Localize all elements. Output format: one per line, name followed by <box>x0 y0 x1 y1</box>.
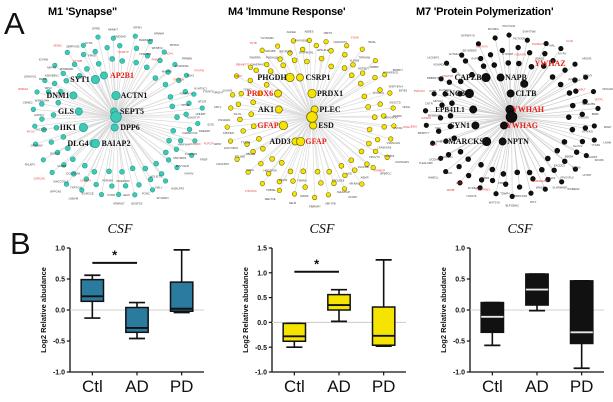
network-node <box>106 169 111 174</box>
network-node-label: HPSLFHA <box>317 48 330 52</box>
network-node <box>592 124 597 129</box>
network-node-label: HDTBCY <box>358 67 369 71</box>
network-node-label: BLPCBWC <box>506 203 519 207</box>
y-axis-tick-label: 1.0 <box>257 270 267 277</box>
network-node-label: IDGWF3 <box>80 178 91 182</box>
y-axis-title: Log2 Relative abudance <box>241 267 250 353</box>
network-node-label: TGTB <box>249 41 256 45</box>
network-node-label: PBWY <box>498 181 506 185</box>
network-node-label: YVAHV6 <box>466 194 477 198</box>
network-node-label: FNGV3 <box>583 73 592 77</box>
network-node <box>130 166 135 171</box>
network-node-label: BDCF <box>39 77 47 81</box>
significance-star: * <box>112 247 118 262</box>
y-axis-tick-label: 0.0 <box>55 308 65 315</box>
network-node-label: AIBVR <box>360 175 368 179</box>
network-node <box>249 112 254 117</box>
network-node-label: ARYFDN6 <box>279 50 292 54</box>
network-node <box>494 191 499 196</box>
network-node-label: KILPDAW1 <box>395 160 409 164</box>
network-node <box>303 185 308 190</box>
network-node-label: NHHHYHP <box>337 190 350 194</box>
network-node-label: WSPYIDV4 <box>389 85 403 89</box>
network-node <box>239 91 244 96</box>
network-node <box>178 138 183 143</box>
network-node-label: CLYE <box>566 39 573 43</box>
network-node <box>525 38 530 43</box>
boxplot-csf-m1-title: CSF <box>30 222 210 238</box>
network-node-label: MHMKT <box>108 27 118 31</box>
network-node <box>481 64 486 69</box>
network-node <box>562 139 567 144</box>
network-node <box>542 51 547 56</box>
network-node-label: ACHV <box>166 51 174 55</box>
boxplot-csf-m7-title: CSF <box>430 222 610 238</box>
network-node <box>562 159 567 164</box>
network-edge <box>315 55 345 112</box>
network-m4-graph: NRVGFDGLFANSGA6FRCVY5VGCFRBLKIDPPGLEK8TN… <box>214 18 410 212</box>
network-node-label: REGF4 <box>546 176 555 180</box>
network-node-label: BHBWRN7 <box>214 142 222 146</box>
network-node-label: IGYWB <box>39 57 48 61</box>
boxplot-csf-m1-canvas: 1.00.50.0-0.5-1.0Log2 Relative abudanceC… <box>30 240 210 402</box>
network-node-label: CWNE2 <box>23 100 33 104</box>
network-node <box>539 167 544 172</box>
network-node <box>123 183 128 188</box>
network-node-label: DYKSC4 <box>373 91 384 95</box>
network-node-label: TRPNAW <box>359 56 371 60</box>
network-hub-label: PHGDH <box>257 73 287 82</box>
network-node-label: MPKPIY7 <box>418 131 430 135</box>
network-hub-label: GNG3 <box>443 89 465 98</box>
x-axis-category-label: AD <box>125 377 149 396</box>
network-node <box>373 58 378 63</box>
significance-annotation: * <box>294 256 339 272</box>
network-node-label: NYDS <box>85 41 93 45</box>
network-node-label: SNTPMCR1 <box>299 51 314 55</box>
network-node-label: LDNNVGL <box>24 74 37 78</box>
network-node-label: KVBHY <box>436 140 445 144</box>
network-hub-label: PLEC <box>319 105 341 114</box>
network-node-label: IAKWIH <box>421 116 431 120</box>
network-node-label: WCBVC <box>50 151 60 155</box>
network-node-label: EEYWEIE9 <box>463 49 477 53</box>
network-node <box>501 171 506 176</box>
network-node <box>54 125 59 130</box>
boxplot-box-group <box>526 274 548 311</box>
network-hub-node <box>470 106 477 113</box>
network-node-label: TNPTCA1 <box>70 185 83 189</box>
network-node <box>563 68 568 73</box>
network-node <box>570 127 575 132</box>
y-axis-tick-label: -0.5 <box>453 339 465 346</box>
boxplot-csf-m7-graph: 1.00.50.0-0.5-1.0Log2 Relative abudanceC… <box>430 240 610 402</box>
network-node-label: ANNCMYL <box>214 105 222 109</box>
network-node-label: MDVH3 <box>433 99 443 103</box>
network-node-label: IWKABK <box>265 49 276 53</box>
network-node <box>248 78 253 83</box>
network-node <box>591 89 596 94</box>
box-iqr <box>328 295 350 310</box>
network-node <box>583 126 588 131</box>
network-node <box>264 82 269 87</box>
network-node-label: EEAY <box>123 193 130 197</box>
network-node-label: NPKEVT <box>214 90 224 94</box>
network-node <box>238 117 243 122</box>
network-hub-node <box>91 139 99 147</box>
network-node <box>110 56 115 61</box>
network-node <box>96 35 101 40</box>
network-node <box>260 48 265 53</box>
network-node-label: YSEASF3 <box>514 53 527 57</box>
network-node-label: WVTSY6 <box>489 201 501 205</box>
network-node-label: AAHILG1 <box>441 155 453 159</box>
network-node <box>99 192 104 197</box>
network-node <box>319 56 324 61</box>
network-hub-node <box>482 73 490 81</box>
network-node-label: FCWC <box>142 192 150 196</box>
network-hub-label: CLTB <box>515 89 537 98</box>
network-node <box>378 102 383 107</box>
network-hub-node <box>75 108 82 115</box>
network-node <box>304 59 309 64</box>
x-axis-category-label: PD <box>372 377 396 396</box>
network-hub-label: BAIAP2 <box>102 139 131 148</box>
network-node-label: WWDF <box>536 186 545 190</box>
network-node <box>449 101 454 106</box>
network-node-label: YLEALSM6 <box>419 161 433 165</box>
network-node <box>388 91 393 96</box>
network-node-label: WKWFA2 <box>18 87 28 91</box>
network-node <box>175 115 180 120</box>
network-node-label: HPYHRW1 <box>477 187 491 191</box>
network-hub-node <box>111 124 118 131</box>
network-node <box>596 106 601 111</box>
network-node <box>94 182 99 187</box>
network-hub-node <box>275 106 282 113</box>
network-node-label: PPLPGLL <box>568 77 580 81</box>
network-node-label: EBEB4 <box>565 154 574 158</box>
network-node-label: DBBSNTS5 <box>427 76 442 80</box>
network-node-label: TMBSE <box>266 188 275 192</box>
network-node <box>423 108 428 113</box>
network-node-label: SYDIE <box>351 36 359 40</box>
network-node <box>366 141 371 146</box>
network-node-label: EVHVTW6 <box>523 29 536 33</box>
network-node-label: INLITL <box>234 112 243 116</box>
network-node-label: YGVNGM2 <box>260 36 274 40</box>
network-node-label: CNTR <box>425 102 433 106</box>
network-m7-title: M7 'Protein Polymerization' <box>410 6 613 18</box>
network-node <box>241 128 246 133</box>
network-node-label: MTRCK <box>170 43 180 47</box>
network-node <box>359 149 364 154</box>
network-node <box>566 115 571 120</box>
network-node <box>516 61 521 66</box>
network-node <box>256 136 261 141</box>
x-axis-category-label: Ctl <box>284 377 305 396</box>
network-node-label: YGTBL8 <box>384 154 395 158</box>
network-node-label: CKRCW1 <box>33 177 45 181</box>
x-axis-category-label: AD <box>525 377 549 396</box>
network-hub-label: DNM1 <box>46 91 69 100</box>
y-axis-tick-label: 0.0 <box>455 308 465 315</box>
network-node-label: PKFYGN4 <box>503 24 516 28</box>
network-node <box>391 106 396 111</box>
x-axis-category-label: AD <box>327 377 351 396</box>
network-node-label: FRCVY5 <box>369 155 380 159</box>
network-node <box>56 100 61 105</box>
network-node-label: KYAWFWA <box>175 64 189 68</box>
network-node <box>117 43 122 48</box>
network-node-label: ASEAEBV1 <box>45 73 60 77</box>
network-node <box>200 106 205 111</box>
boxplot-box-group <box>571 281 593 368</box>
network-node <box>258 161 263 166</box>
network-node <box>281 63 286 68</box>
network-node-label: VHVHV <box>184 172 193 176</box>
network-node <box>479 162 484 167</box>
network-node-label: PBIRNPY <box>309 205 321 209</box>
network-hub-label: CAPZB <box>454 73 482 82</box>
network-node <box>292 58 297 63</box>
network-node-label: YEFMY <box>133 26 142 30</box>
box-iqr <box>283 323 305 341</box>
network-node <box>236 102 241 107</box>
network-node <box>61 71 66 76</box>
network-node <box>119 169 124 174</box>
network-node <box>70 157 75 162</box>
network-node-label: KFDIDFF <box>190 142 202 146</box>
boxplot-box-group <box>328 290 350 322</box>
network-node <box>329 48 334 53</box>
network-node-label: BGSFC9 <box>132 202 143 206</box>
network-node <box>457 164 462 169</box>
network-node-label: SICMCCE <box>81 191 94 195</box>
network-node-label: WWIB <box>447 188 455 192</box>
network-hub-label: YWHAG <box>506 121 538 130</box>
network-node <box>517 185 522 190</box>
network-node <box>105 45 110 50</box>
y-axis-tick-label: -1.0 <box>53 370 65 377</box>
network-node <box>351 62 356 67</box>
network-node-label: NDGEVBS <box>582 102 595 106</box>
network-node-label: TAIC <box>435 126 441 130</box>
network-hub-label: EPB41L1 <box>435 106 465 114</box>
network-node <box>167 138 172 143</box>
network-node <box>93 49 98 54</box>
network-node-label: PPGLEK8 <box>332 178 345 182</box>
network-node-label: EACDD3 <box>554 164 565 168</box>
y-axis-tick-label: -1.0 <box>255 370 267 377</box>
network-edge <box>119 56 148 112</box>
y-axis-tick-label: 0.5 <box>55 277 65 284</box>
network-edge <box>512 123 513 196</box>
network-hub-label: YWHAZ <box>534 59 565 68</box>
network-node <box>507 33 512 38</box>
network-node-label: HNHMP <box>196 112 206 116</box>
network-node-label: VIELY <box>155 186 163 190</box>
y-axis-tick-label: 1.0 <box>55 246 65 253</box>
boxplot-csf-m7: CSF 1.00.50.0-0.5-1.0Log2 Relative abuda… <box>430 212 610 402</box>
network-node-label: KGMADR1 <box>434 63 448 67</box>
network-node-label: EKPWVYS <box>461 34 474 38</box>
network-hub-node <box>465 89 473 97</box>
network-node <box>592 138 597 143</box>
network-node-label: PVMR <box>481 176 489 180</box>
network-node <box>195 121 200 126</box>
network-hub-label: PRDX1 <box>317 89 343 98</box>
network-node-label: HAEG <box>246 168 254 172</box>
network-node-label: WAWK <box>300 194 309 198</box>
network-node-label: LHYR <box>430 143 437 147</box>
network-hub-label: ESD <box>318 121 334 130</box>
network-node-label: PHETK6 <box>443 74 454 78</box>
network-node <box>574 150 579 155</box>
network-node-label: TDWP4 <box>500 191 510 195</box>
network-node-label: GFHNBW <box>31 144 43 148</box>
network-node <box>279 160 284 165</box>
network-node <box>292 192 297 197</box>
network-node-label: DPRE <box>92 26 100 30</box>
network-node-label: SLHRMHB7 <box>553 186 568 190</box>
network-node <box>362 94 367 99</box>
network-node <box>318 180 323 185</box>
network-node-label: DYKIE2 <box>468 186 478 190</box>
network-node-label: GLCGV <box>573 144 583 148</box>
significance-annotation: * <box>92 247 137 263</box>
network-node-label: AEIW1 <box>53 43 62 47</box>
network-node-label: WCBEIN2 <box>567 187 580 191</box>
network-node-label: HIPCFV <box>34 113 44 117</box>
network-node <box>61 134 66 139</box>
network-node <box>109 184 114 189</box>
y-axis-tick-label: -1.0 <box>453 370 465 377</box>
network-node <box>82 163 87 168</box>
network-node <box>277 188 282 193</box>
network-hub-node <box>79 123 87 131</box>
network-node <box>143 166 148 171</box>
network-hub-label: NAPB <box>505 73 527 82</box>
y-axis-tick-label: -0.5 <box>53 339 65 346</box>
network-node <box>251 124 256 129</box>
network-node-label: FMND <box>88 53 96 57</box>
network-node-label: GPSLLW <box>173 77 184 81</box>
boxplot-csf-m4: CSF 1.51.00.50.0-0.5-1.0Log2 Relative ab… <box>232 212 412 402</box>
network-node <box>555 148 560 153</box>
network-node-label: KPMR <box>182 103 190 107</box>
network-node <box>64 78 69 83</box>
network-node <box>49 140 54 145</box>
network-node-label: AEBES <box>305 29 314 33</box>
x-axis-category-label: Ctl <box>482 377 503 396</box>
box-iqr <box>571 281 593 344</box>
network-m7-canvas: GVSGRIYRTKKI5GLCGVEBEB4EACDD3REGF4NDRWAH… <box>410 18 613 212</box>
network-node <box>373 75 378 80</box>
network-node-label: HISKLPP2 <box>171 186 184 190</box>
boxplot-box-group <box>283 323 305 347</box>
network-node-label: ITEIKL <box>368 40 377 44</box>
box-iqr <box>373 307 395 345</box>
network-node <box>424 123 429 128</box>
network-node-label: SKCR6 <box>595 158 604 162</box>
network-node <box>163 179 168 184</box>
panel-a-networks: M1 'Synapse" WLWGTYFFGBMCCS3HVAFVAAMWYMW… <box>0 0 613 212</box>
network-node-label: NDRWAHN3 <box>532 179 548 183</box>
network-node-label: WYHFRN <box>157 196 169 200</box>
network-node <box>133 34 138 39</box>
network-node-label: FAIKH <box>152 58 160 62</box>
network-node-label: KFNRY <box>348 195 357 199</box>
network-m7-graph: GVSGRIYRTKKI5GLCGVEBEB4EACDD3REGF4NDRWAH… <box>410 18 613 212</box>
x-axis-category-label: PD <box>170 377 194 396</box>
network-node-label: YTGB1 <box>591 143 600 147</box>
network-node <box>312 195 317 200</box>
network-node <box>388 137 393 142</box>
figure-root: A B M1 'Synapse" WLWGTYFFGBMCCS3HVAFVAAM… <box>0 0 613 402</box>
network-node-label: VEKYFB <box>325 202 336 206</box>
network-node <box>466 173 471 178</box>
network-node <box>447 80 452 85</box>
network-hub-label: GFAP <box>257 121 278 130</box>
network-node-label: KIDE7 <box>604 125 612 129</box>
network-node-label: LFYRP <box>583 173 592 177</box>
network-node <box>516 45 521 50</box>
network-node <box>367 127 372 132</box>
network-node <box>342 66 347 71</box>
network-node <box>570 103 575 108</box>
network-node <box>463 59 468 64</box>
box-iqr <box>81 280 103 302</box>
network-node-label: HPMW4 <box>154 31 165 35</box>
y-axis-title: Log2 Relative abudance <box>439 267 448 353</box>
network-node-label: FGFCPYM <box>204 142 214 146</box>
network-node-label: LKID <box>346 172 352 176</box>
network-node-label: KRBB6 <box>370 65 379 69</box>
boxplot-box-group <box>126 303 148 339</box>
network-node-label: PLDRACV <box>532 42 545 46</box>
network-node-label: SCISSCV <box>207 122 214 126</box>
network-node <box>50 170 55 175</box>
network-node-label: PDWBNDK <box>60 67 74 71</box>
boxplot-csf-m4-canvas: 1.51.00.50.0-0.5-1.0Log2 Relative abudan… <box>232 240 412 402</box>
network-node <box>153 75 158 80</box>
network-node-label: RLHS <box>187 74 194 78</box>
network-node-label: YSHIFNY4 <box>179 92 193 96</box>
network-hub-label: YWHAH <box>512 105 545 114</box>
boxplot-csf-m4-title: CSF <box>232 222 412 238</box>
network-node-label: PWDHLBL <box>266 55 279 59</box>
network-hub-label: GLS <box>58 107 75 116</box>
network-m1-title: M1 'Synapse" <box>18 6 214 18</box>
network-node-label: LKCNKF1 <box>427 55 440 59</box>
network-node-label: HVAFVAA <box>178 143 190 147</box>
network-m7: M7 'Protein Polymerization' GVSGRIYRTKKI… <box>410 0 613 212</box>
network-node-label: KRWMLT <box>113 202 125 206</box>
network-node-label: SBPRYIN3 <box>66 45 80 49</box>
network-node <box>375 137 380 142</box>
network-node <box>288 169 293 174</box>
network-node-label: TTDW8 <box>241 141 251 145</box>
network-node-label: FDAW <box>279 178 287 182</box>
network-node <box>168 94 173 99</box>
network-node <box>254 68 259 73</box>
network-node-label: MSFGYN <box>476 44 488 48</box>
network-node-label: VGCFRB <box>357 165 368 169</box>
network-node-label: WFSBY2 <box>152 46 164 50</box>
network-node-label: PIPBMN <box>182 56 192 60</box>
x-axis-category-label: PD <box>570 377 594 396</box>
